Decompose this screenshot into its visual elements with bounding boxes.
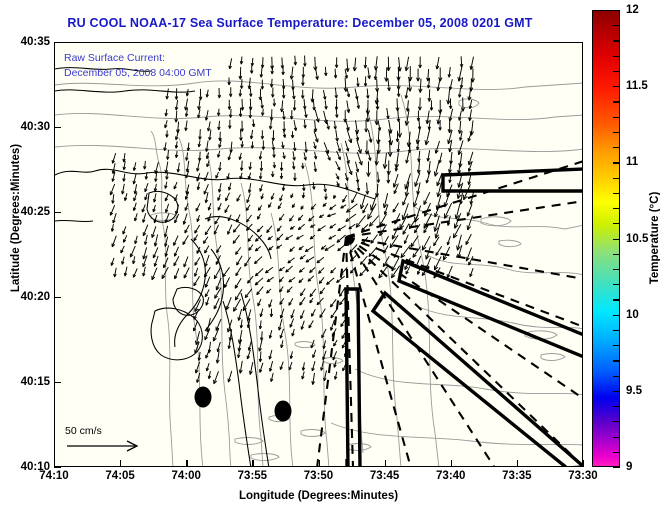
colorbar-tick-mark	[613, 223, 620, 224]
current-vector	[255, 278, 263, 285]
colorbar-tick-mark	[613, 330, 620, 331]
current-vector	[235, 278, 241, 288]
current-vector	[257, 287, 264, 295]
colorbar-tick-mark	[613, 437, 620, 438]
colorbar-tick-mark	[613, 315, 620, 316]
colorbar-tick-mark	[613, 452, 620, 453]
x-axis-tick-label: 73:55	[222, 470, 282, 482]
colorbar-tick-mark	[613, 132, 620, 133]
colorbar-tick-mark	[613, 101, 620, 102]
current-vector	[235, 289, 242, 300]
current-vector	[367, 108, 368, 122]
colorbar-tick-mark	[613, 40, 620, 41]
x-axis-tick-label: 73:50	[289, 470, 349, 482]
x-axis-tick-mark	[120, 460, 121, 467]
x-axis-tick-mark	[319, 460, 320, 467]
colorbar-tick-mark	[613, 193, 620, 194]
current-vector	[392, 227, 398, 240]
x-axis-tick-label: 74:10	[24, 470, 84, 482]
current-vector	[224, 277, 229, 287]
x-axis-tick-label: 74:05	[90, 470, 150, 482]
x-axis-label: Longitude (Degrees:Minutes)	[54, 490, 583, 502]
colorbar-tick-mark	[613, 376, 620, 377]
current-vector	[223, 267, 230, 277]
current-vector	[255, 235, 262, 241]
map-clip: Raw Surface Current: December 05, 2008 0…	[55, 43, 582, 466]
x-axis-ticks: 74:1074:0574:0073:5573:5073:4573:4073:35…	[54, 470, 583, 488]
colorbar-tick-mark	[613, 239, 620, 240]
current-vector	[234, 299, 241, 311]
scale-legend-label: 50 cm/s	[65, 425, 143, 437]
colorbar-tick-mark	[613, 299, 620, 300]
y-axis-tick-label: 40:15	[6, 376, 50, 388]
current-vector	[327, 278, 335, 285]
y-axis-tick-mark	[54, 467, 61, 468]
colorbar-tick-mark	[613, 406, 620, 407]
colorbar-tick-mark	[613, 86, 620, 87]
current-vector	[401, 245, 410, 258]
figure-title: RU COOL NOAA-17 Sea Surface Temperature:…	[0, 16, 600, 30]
colorbar-tick-mark	[613, 391, 620, 392]
colorbar-tick-mark	[613, 254, 620, 255]
y-axis-tick-mark	[54, 212, 61, 213]
current-vector	[237, 256, 243, 265]
colorbar-tick-label: 12	[626, 4, 639, 16]
current-vector	[338, 245, 346, 251]
colorbar-tick-label: 11	[626, 156, 638, 168]
colorbar-tick-mark	[613, 284, 620, 285]
colorbar-tick-label: 10	[626, 309, 639, 321]
colorbar-tick-label: 9	[626, 461, 632, 473]
current-vector	[325, 245, 335, 251]
current-vector	[386, 68, 387, 82]
x-axis-tick-label: 73:45	[355, 470, 415, 482]
subtitle-block: Raw Surface Current: December 05, 2008 0…	[64, 51, 212, 81]
colorbar-label: Temperature (°C)	[649, 158, 660, 318]
station-marker	[195, 387, 212, 408]
x-axis-tick-label: 73:30	[553, 470, 613, 482]
y-axis-label: Latitude (Degrees:Minutes)	[10, 118, 22, 318]
y-axis-tick-mark	[54, 127, 61, 128]
colorbar-tick-mark	[613, 421, 620, 422]
current-vector	[403, 224, 409, 235]
map-plot-area: Raw Surface Current: December 05, 2008 0…	[54, 42, 583, 467]
colorbar-tick-mark	[613, 25, 620, 26]
colorbar-tick-label: 11.5	[626, 80, 648, 92]
scale-legend: 50 cm/s	[65, 425, 143, 458]
subtitle-line-1: Raw Surface Current:	[64, 51, 212, 66]
current-vector	[368, 204, 376, 220]
y-axis-tick-mark	[54, 297, 61, 298]
right-arrow-icon	[65, 437, 143, 453]
colorbar-tick-label: 10.5	[626, 233, 648, 245]
colorbar-tick-mark	[613, 467, 620, 468]
y-axis-ticks: 40:3540:3040:2540:2040:1540:10	[0, 42, 50, 467]
current-vector	[360, 256, 367, 265]
current-vector	[337, 235, 346, 242]
current-vector	[360, 267, 368, 275]
x-axis-tick-mark	[517, 460, 518, 467]
y-axis-tick-mark	[54, 42, 61, 43]
x-axis-tick-mark	[252, 460, 253, 467]
x-axis-tick-label: 73:35	[487, 470, 547, 482]
colorbar-tick-mark	[613, 360, 620, 361]
current-vector	[245, 289, 252, 298]
current-vector	[254, 257, 262, 264]
current-vector	[346, 204, 357, 213]
x-axis-tick-label: 74:00	[156, 470, 216, 482]
x-axis-tick-label: 73:40	[421, 470, 481, 482]
y-axis-tick-label: 40:35	[6, 36, 50, 48]
colorbar-tick-mark	[613, 178, 620, 179]
colorbar-tick-mark	[613, 269, 620, 270]
x-axis-tick-mark	[186, 460, 187, 467]
current-vector	[233, 224, 239, 232]
x-axis-tick-mark	[54, 460, 55, 467]
colorbar-tick-mark	[613, 162, 620, 163]
x-axis-tick-mark	[583, 460, 584, 467]
radar-beam-footprints	[346, 169, 582, 466]
current-vector	[346, 214, 356, 222]
current-vector	[245, 257, 251, 266]
current-vector	[422, 236, 430, 250]
subtitle-line-2: December 05, 2008 04:00 GMT	[64, 66, 212, 81]
colorbar-tick-label: 9.5	[626, 385, 642, 397]
current-vector	[183, 235, 189, 244]
x-axis-tick-mark	[451, 460, 452, 467]
colorbar-tick-mark	[613, 10, 620, 11]
current-vector	[356, 215, 365, 227]
colorbar-tick-mark	[613, 56, 620, 57]
colorbar-tick-mark	[613, 208, 620, 209]
colorbar-tick-mark	[613, 147, 620, 148]
current-vector	[371, 235, 378, 244]
x-axis-tick-mark	[385, 460, 386, 467]
current-vector	[255, 269, 263, 276]
y-axis-tick-mark	[54, 382, 61, 383]
colorbar-tick-mark	[613, 345, 620, 346]
colorbar-tick-mark	[613, 117, 620, 118]
map-graphics	[55, 43, 582, 466]
sst-current-map-figure: RU COOL NOAA-17 Sea Surface Temperature:…	[0, 0, 660, 519]
station-marker	[275, 401, 292, 422]
colorbar-tick-mark	[613, 71, 620, 72]
current-vector	[411, 236, 418, 247]
current-vector	[233, 235, 239, 243]
current-vector	[363, 204, 368, 214]
current-vector	[162, 267, 168, 279]
